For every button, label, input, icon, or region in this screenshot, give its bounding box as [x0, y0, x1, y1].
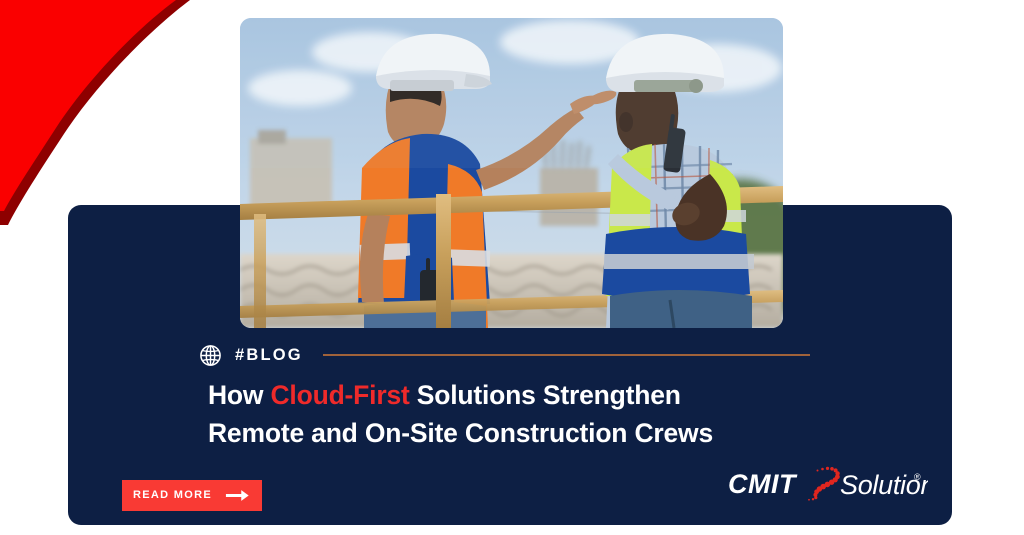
eyebrow-label: #BLOG: [235, 347, 303, 364]
hero-photo: [240, 18, 783, 328]
eyebrow-divider: [323, 354, 810, 356]
brand-name-bold: CMIT: [728, 469, 798, 499]
headline-accent: Cloud-First: [271, 380, 410, 410]
hero-photo-svg: [240, 18, 783, 328]
red-corner-swoosh: [0, 0, 230, 230]
headline-line1-post: Solutions Strengthen: [410, 380, 681, 410]
arrow-right-icon: [225, 489, 251, 502]
read-more-button[interactable]: READ MORE: [122, 480, 262, 511]
cmit-solutions-logo: CMIT: [728, 463, 928, 505]
headline-line1-pre: How: [208, 380, 271, 410]
brand-trademark: ®: [914, 472, 921, 482]
blog-eyebrow: #BLOG: [199, 342, 810, 368]
page-title: How Cloud-First Solutions Strengthen Rem…: [208, 377, 908, 452]
promo-banner: #BLOG How Cloud-First Solutions Strength…: [0, 0, 1024, 535]
read-more-label: READ MORE: [133, 490, 212, 501]
brand-dot-swoosh: [808, 467, 840, 501]
globe-icon: [199, 344, 222, 367]
headline-line2: Remote and On-Site Construction Crews: [208, 418, 713, 448]
brand-logo-svg: CMIT: [728, 463, 928, 505]
